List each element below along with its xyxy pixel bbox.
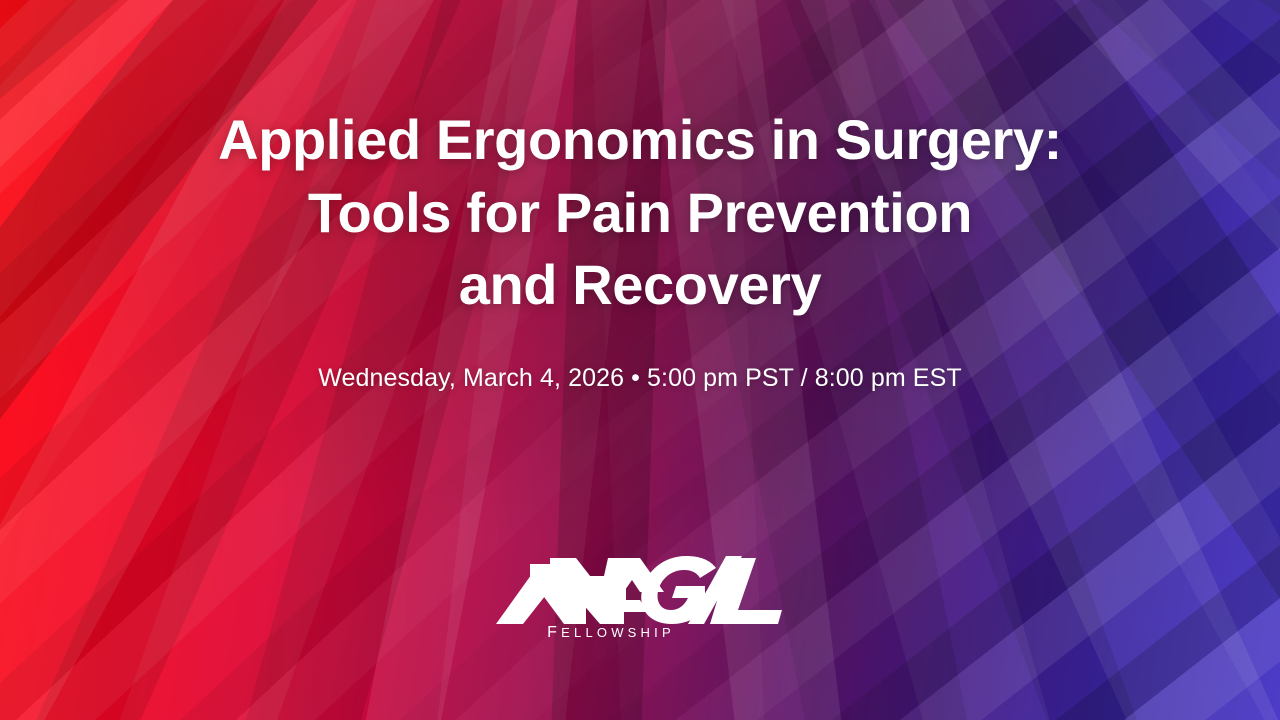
logo-tagline: FELLOWSHIP	[547, 624, 675, 642]
page-title: Applied Ergonomics in Surgery: Tools for…	[95, 104, 1185, 322]
promo-slide: Applied Ergonomics in Surgery: Tools for…	[0, 0, 1280, 720]
event-datetime: Wednesday, March 4, 2026 • 5:00 pm PST /…	[318, 364, 961, 393]
logo-tagline-initial: F	[547, 624, 561, 641]
title-line-2: Tools for Pain Prevention	[95, 177, 1185, 250]
aagl-wordmark-icon	[490, 552, 790, 628]
aagl-fellowship-logo: FELLOWSHIP	[490, 552, 790, 642]
title-line-3: and Recovery	[95, 249, 1185, 322]
title-line-1: Applied Ergonomics in Surgery:	[95, 104, 1185, 177]
logo-tagline-rest: ELLOWSHIP	[561, 625, 675, 640]
